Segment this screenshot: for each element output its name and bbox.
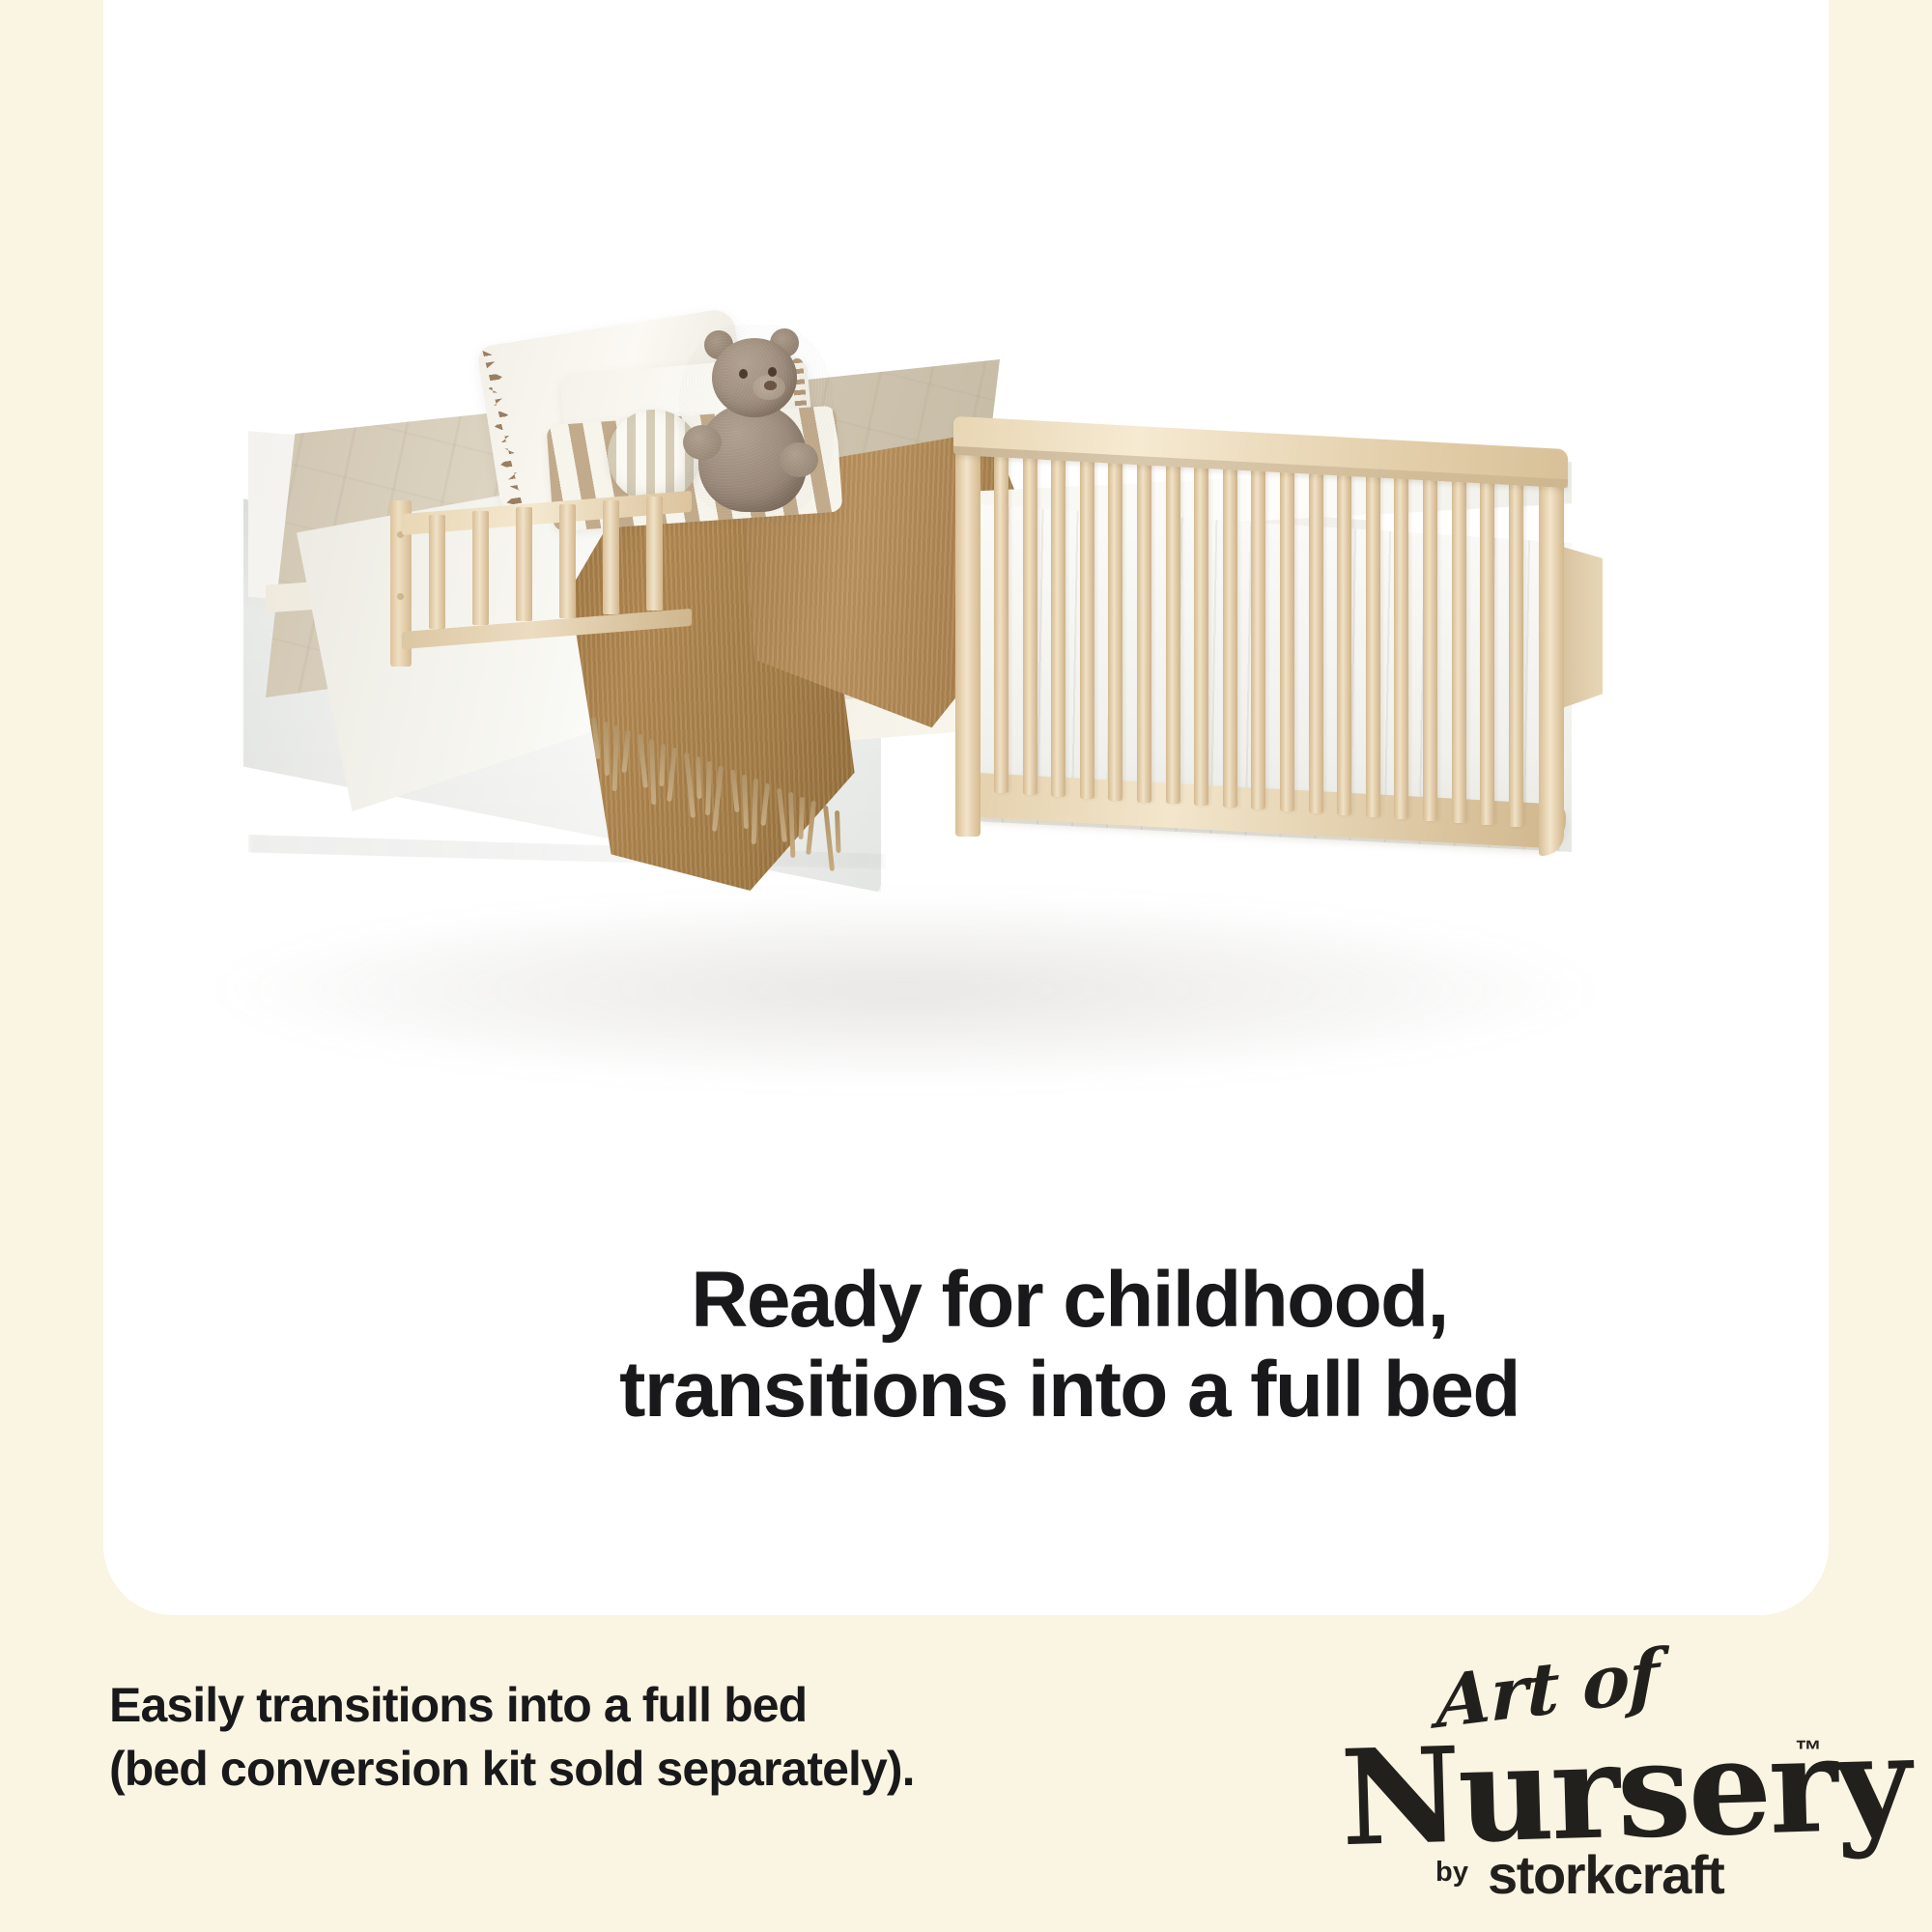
fringe-tassel	[835, 810, 841, 853]
panel-stile-left	[955, 439, 980, 837]
panel-slat	[1423, 475, 1437, 821]
fringe-tassel	[638, 734, 648, 788]
fringe-tassel	[788, 792, 795, 858]
crib-front-panel	[953, 433, 1568, 895]
poster-canvas: Ready for childhood, transitions into a …	[0, 0, 1932, 1932]
guardrail-slat	[559, 504, 576, 618]
footer-caption-line-2: (bed conversion kit sold separately).	[109, 1737, 1075, 1801]
floor-shadow	[219, 898, 1591, 1082]
panel-slat	[1394, 474, 1408, 819]
logo-brand-name: storkcraft	[1488, 1843, 1723, 1906]
panel-slat	[1023, 454, 1037, 795]
page-title: Ready for childhood, transitions into a …	[207, 1256, 1829, 1435]
fringe-tassel	[742, 775, 749, 829]
fringe-tassel	[712, 765, 724, 831]
panel-slat	[1337, 470, 1351, 815]
footer-caption-line-1: Easily transitions into a full bed	[109, 1673, 1075, 1737]
bear-arm-left	[683, 425, 722, 460]
bear-eye-right	[768, 367, 777, 377]
teddy-bear	[679, 325, 834, 518]
fringe-tassel	[591, 717, 601, 759]
fringe-tassel	[760, 783, 770, 826]
panel-slat	[1480, 478, 1494, 825]
panel-stile-right	[1539, 456, 1564, 856]
bear-eye-left	[739, 369, 748, 379]
crib-guardrail-left	[390, 520, 696, 665]
guardrail-slat	[472, 511, 489, 625]
fringe-tassel	[684, 753, 696, 818]
panel-slat	[1108, 459, 1122, 801]
guardrail-slat	[603, 500, 619, 614]
bear-head	[712, 338, 797, 417]
guardrail-slat	[429, 515, 445, 629]
fringe-tassel	[621, 730, 631, 773]
throw-fringe	[591, 717, 852, 833]
bear-arm-right	[780, 442, 818, 477]
fringe-tassel	[667, 748, 677, 802]
brand-logo[interactable]: Art of Nursery ™ by storkcraft	[1341, 1642, 1882, 1913]
product-card: Ready for childhood, transitions into a …	[103, 0, 1829, 1615]
panel-slat	[1166, 462, 1180, 805]
panel-slat	[1452, 477, 1466, 823]
panel-slat	[1280, 468, 1294, 811]
fringe-tassel	[730, 770, 740, 812]
footer-caption: Easily transitions into a full bed (bed …	[109, 1673, 1075, 1801]
logo-byline-prefix: by	[1435, 1857, 1468, 1889]
headline-line-1: Ready for childhood,	[207, 1256, 1829, 1346]
panel-slat	[1051, 455, 1065, 796]
guardrail-bottom-bar	[402, 609, 692, 649]
bear-nose	[764, 381, 777, 390]
panel-slat	[1080, 457, 1094, 799]
panel-slat	[1194, 463, 1208, 806]
panel-slat	[1366, 472, 1380, 817]
headline-line-2: transitions into a full bed	[207, 1346, 1829, 1435]
panel-slat	[1509, 480, 1523, 827]
guardrail-slat	[646, 497, 663, 611]
guardrail-slat	[516, 507, 532, 621]
panel-slat	[1223, 465, 1237, 808]
fringe-tassel	[649, 739, 656, 805]
panel-slat	[994, 452, 1009, 793]
fringe-tassel	[603, 722, 610, 776]
footer-bar: Easily transitions into a full bed (bed …	[0, 1619, 1932, 1932]
fringe-tassel	[612, 725, 619, 791]
fringe-tassel	[705, 761, 712, 815]
panel-slat	[1309, 469, 1323, 813]
product-photo	[103, 0, 1829, 1188]
panel-slat	[1251, 467, 1265, 810]
fringe-tassel	[659, 744, 666, 786]
panel-slat	[1137, 460, 1151, 802]
fringe-tassel	[696, 756, 702, 799]
trademark-symbol: ™	[1795, 1735, 1822, 1766]
